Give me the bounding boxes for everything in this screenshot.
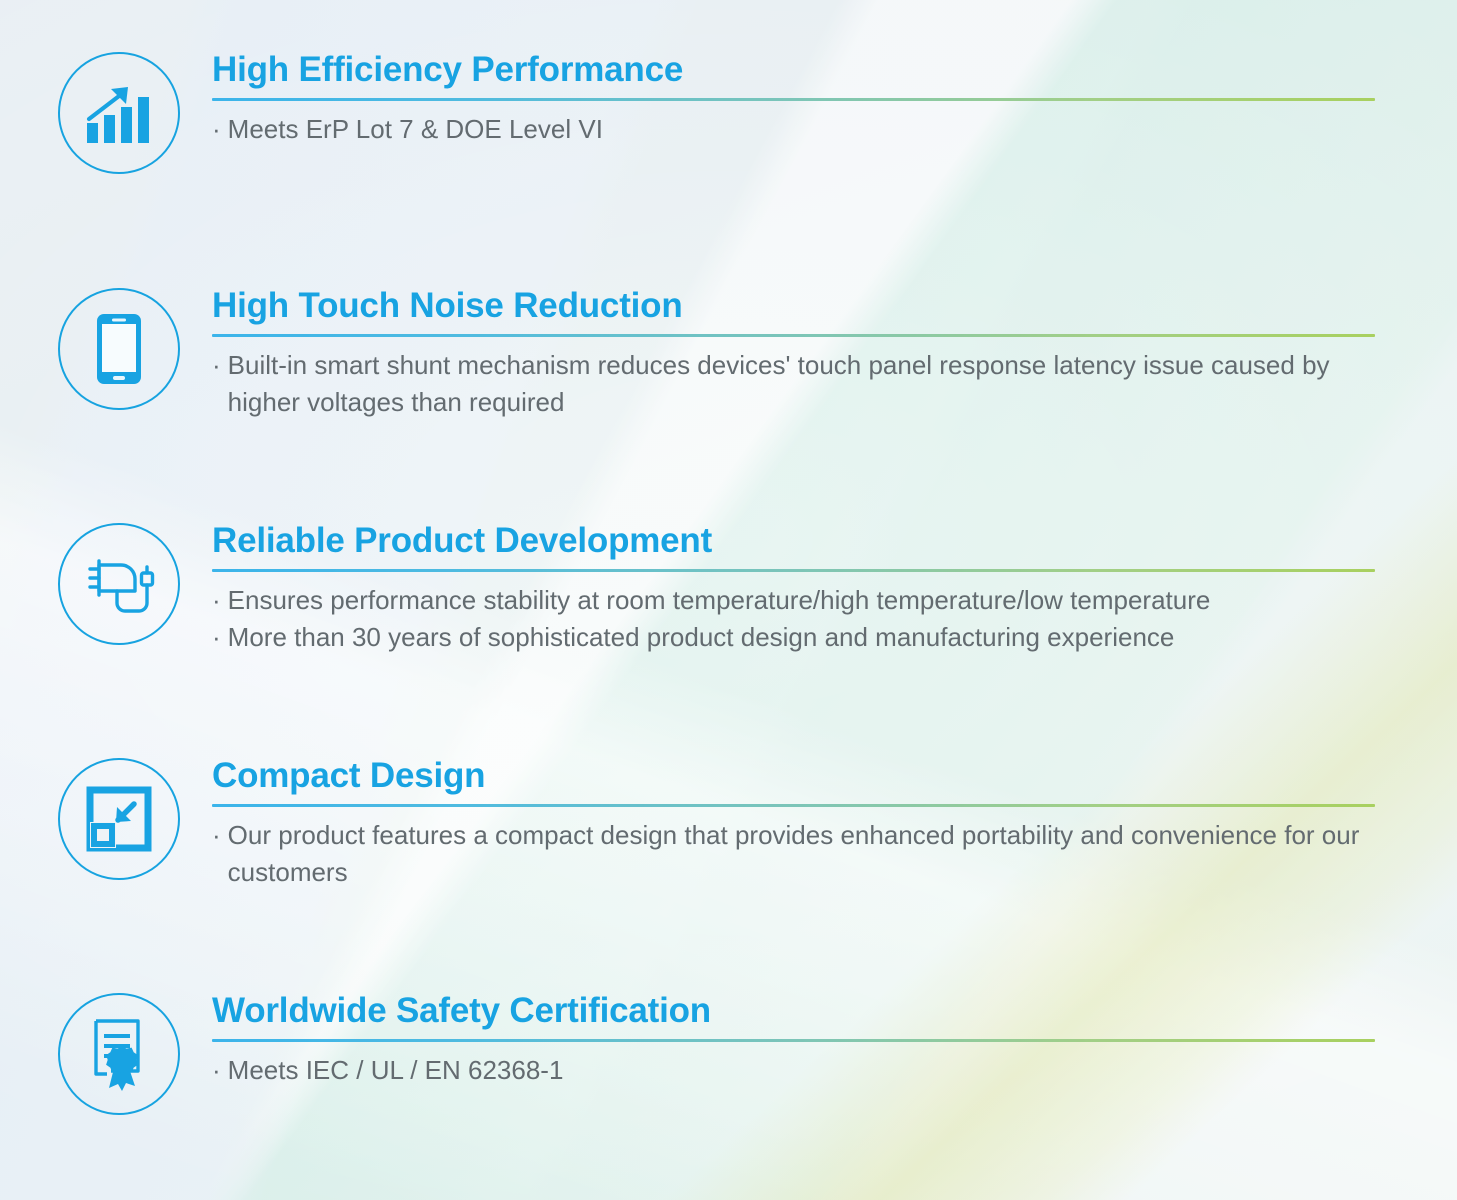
feature-bullet: · Meets IEC / UL / EN 62368-1 [212, 1052, 1375, 1089]
feature-bullet-list: · Built-in smart shunt mechanism reduces… [212, 347, 1375, 421]
growth-bar-chart-icon [58, 52, 180, 174]
feature-divider [212, 569, 1375, 572]
bullet-dot-icon: · [212, 1052, 221, 1089]
feature-bullet-text: Meets IEC / UL / EN 62368-1 [228, 1052, 1375, 1089]
feature-title: Reliable Product Development [212, 523, 1375, 560]
feature-bullet: · Built-in smart shunt mechanism reduces… [212, 347, 1375, 421]
feature-title: High Touch Noise Reduction [212, 288, 1375, 325]
feature-body: Reliable Product Development · Ensures p… [212, 523, 1375, 656]
bullet-dot-icon: · [212, 347, 221, 384]
feature-title: Worldwide Safety Certification [212, 993, 1375, 1030]
feature-bullet-list: · Meets IEC / UL / EN 62368-1 [212, 1052, 1375, 1089]
feature-bullet-list: · Meets ErP Lot 7 & DOE Level VI [212, 111, 1375, 148]
feature-bullet-text: Meets ErP Lot 7 & DOE Level VI [228, 111, 1375, 148]
feature-divider [212, 804, 1375, 807]
feature-bullet: · More than 30 years of sophisticated pr… [212, 619, 1375, 656]
feature-divider [212, 98, 1375, 101]
bullet-dot-icon: · [212, 582, 221, 619]
feature-title: High Efficiency Performance [212, 52, 1375, 89]
feature-bullet: · Our product features a compact design … [212, 817, 1375, 891]
feature-body: High Efficiency Performance · Meets ErP … [212, 52, 1375, 148]
feature-highlights-page: High Efficiency Performance · Meets ErP … [0, 0, 1457, 1200]
feature-body: Worldwide Safety Certification · Meets I… [212, 993, 1375, 1089]
feature-bullet: · Meets ErP Lot 7 & DOE Level VI [212, 111, 1375, 148]
feature-bullet-text: Ensures performance stability at room te… [228, 582, 1375, 619]
bullet-dot-icon: · [212, 619, 221, 656]
feature-bullet-list: · Our product features a compact design … [212, 817, 1375, 891]
feature-bullet-text: More than 30 years of sophisticated prod… [228, 619, 1375, 656]
smartphone-icon [58, 288, 180, 410]
compact-resize-icon [58, 758, 180, 880]
feature-title: Compact Design [212, 758, 1375, 795]
feature-body: High Touch Noise Reduction · Built-in sm… [212, 288, 1375, 421]
feature-bullet-text: Our product features a compact design th… [228, 817, 1375, 891]
feature-divider [212, 334, 1375, 337]
feature-bullet-text: Built-in smart shunt mechanism reduces d… [228, 347, 1375, 421]
certificate-seal-icon [58, 993, 180, 1115]
bullet-dot-icon: · [212, 817, 221, 854]
feature-bullet: · Ensures performance stability at room … [212, 582, 1375, 619]
power-adapter-icon [58, 523, 180, 645]
feature-divider [212, 1039, 1375, 1042]
feature-body: Compact Design · Our product features a … [212, 758, 1375, 891]
feature-bullet-list: · Ensures performance stability at room … [212, 582, 1375, 656]
bullet-dot-icon: · [212, 111, 221, 148]
